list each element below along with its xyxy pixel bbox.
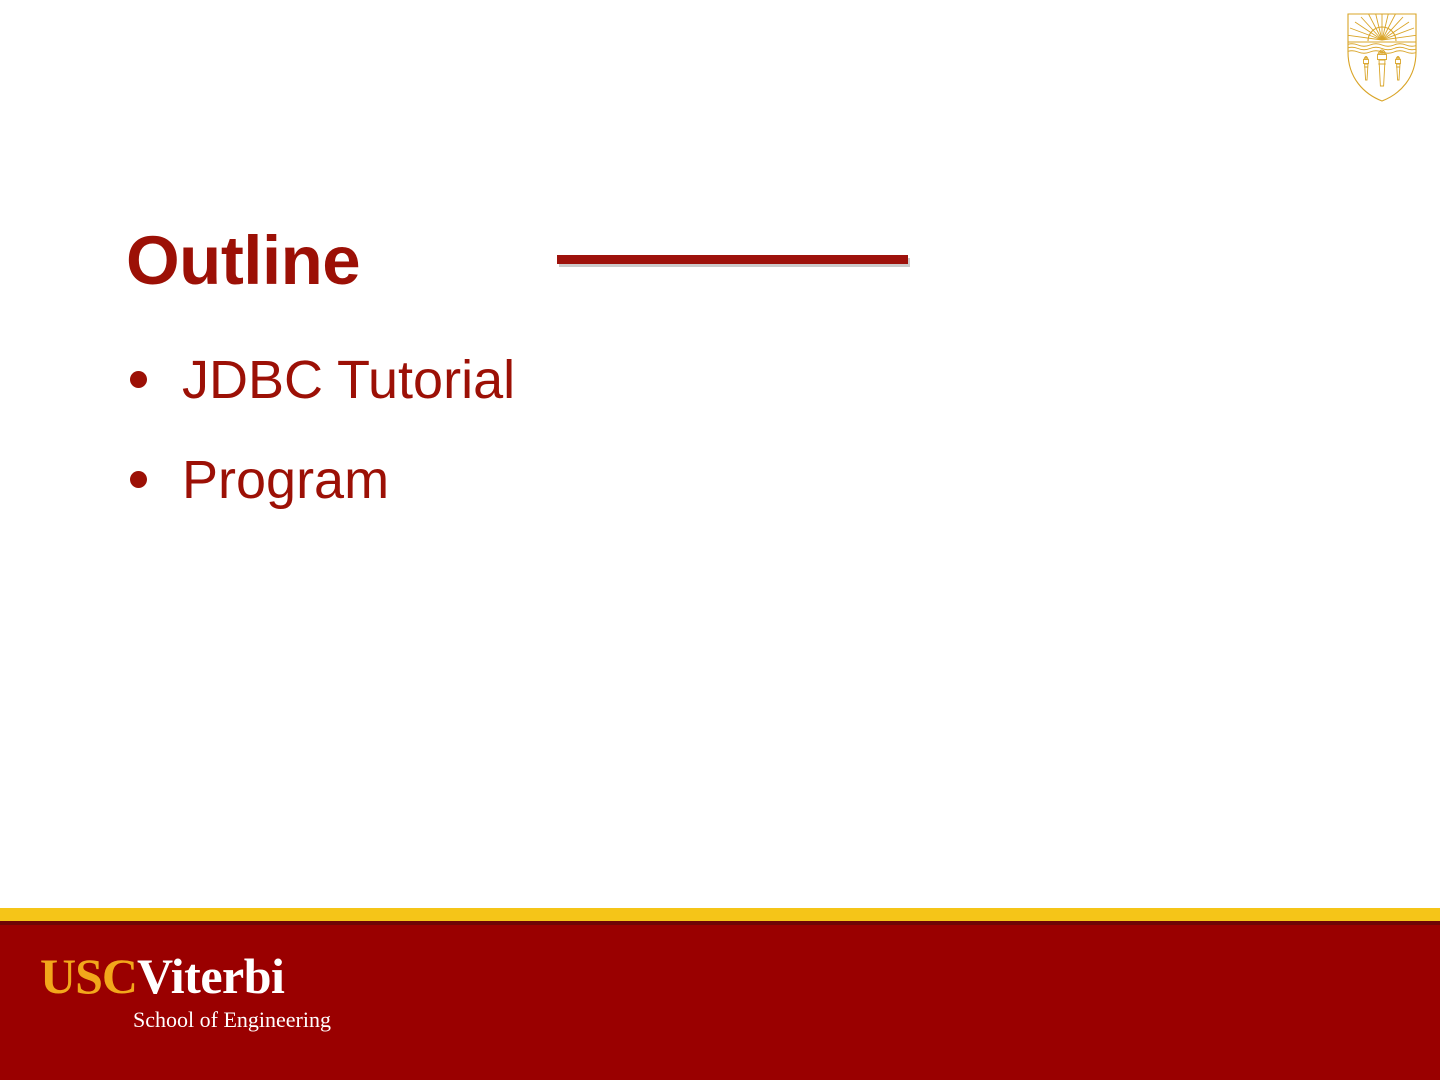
usc-shield-crest-icon bbox=[1342, 8, 1422, 104]
logo-usc-text: USC bbox=[40, 948, 137, 1004]
list-item-label: JDBC Tutorial bbox=[182, 330, 515, 430]
slide-footer: USCViterbi School of Engineering bbox=[0, 908, 1440, 1080]
list-item: JDBC Tutorial bbox=[126, 330, 1226, 430]
logo-school-text: School of Engineering bbox=[40, 1008, 340, 1032]
logo-wordmark: USCViterbi bbox=[40, 950, 340, 1002]
list-item-label: Program bbox=[182, 430, 389, 530]
list-item: Program bbox=[126, 430, 1226, 530]
title-underline-rule bbox=[557, 255, 908, 264]
page-title: Outline bbox=[126, 221, 360, 301]
slide: Outline JDBC Tutorial Program USCViterbi… bbox=[0, 0, 1440, 1080]
outline-bullet-list: JDBC Tutorial Program bbox=[126, 330, 1226, 530]
usc-viterbi-logo: USCViterbi School of Engineering bbox=[40, 950, 340, 1032]
footer-gold-bar bbox=[0, 908, 1440, 921]
bullet-dot-icon bbox=[130, 471, 147, 488]
logo-viterbi-text: Viterbi bbox=[137, 948, 284, 1004]
bullet-dot-icon bbox=[130, 371, 147, 388]
